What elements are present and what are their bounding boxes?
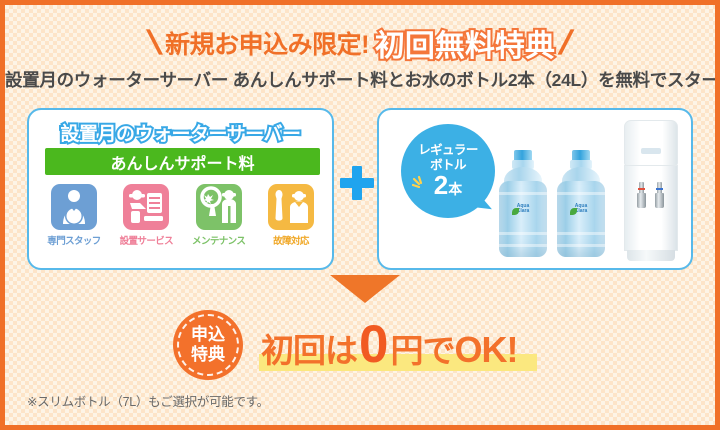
- installation-icon: [123, 184, 169, 230]
- feature-item-staff: 専門スタッフ: [41, 184, 107, 247]
- bubble-count: 2: [434, 170, 448, 200]
- bottle-brand-label: Aqua Clara: [568, 204, 594, 218]
- feature-label-maintenance: メンテナンス: [186, 233, 252, 247]
- tap-body: [637, 193, 646, 208]
- sparkle-icon: [412, 176, 428, 192]
- bottle-rib: [557, 244, 605, 247]
- offer-badge: 申込 特典: [173, 310, 243, 380]
- feature-label-installation: 設置サービス: [113, 233, 179, 247]
- water-server: [622, 120, 680, 262]
- support-panel-band: あんしんサポート料: [45, 148, 320, 175]
- feature-item-maintenance: メンテナンス: [186, 184, 252, 247]
- cold-water-tap: [655, 182, 664, 208]
- support-feature-list: 専門スタッフ: [41, 184, 324, 247]
- support-fee-panel: 設置月のウォーターサーバー あんしんサポート料 専門スタッフ: [27, 108, 334, 270]
- hot-water-tap: [637, 182, 646, 208]
- footnote: ※スリムボトル（7L）もご選択が可能です。: [27, 391, 269, 410]
- offer-amount: 0: [359, 318, 388, 371]
- server-top-section: [624, 120, 678, 166]
- bottle-count-bubble: レギュラー ボトル 2本: [401, 124, 495, 218]
- headline-subtitle: 設置月のウォーターサーバー あんしんサポート料とお水のボトル2本（24L）を無料…: [5, 67, 715, 92]
- bottle-brand-label: Aqua Clara: [510, 204, 536, 218]
- water-bottle: Aqua Clara: [497, 148, 549, 260]
- down-arrow-icon: [330, 275, 400, 303]
- offer-summary: 申込 特典 初回は 0 円 で OK!: [173, 310, 593, 382]
- offer-currency: 円: [390, 324, 422, 372]
- support-panel-title: 設置月のウォーターサーバー: [29, 119, 332, 146]
- bottle-rib: [557, 232, 605, 235]
- feature-item-repair: 故障対応: [258, 184, 324, 247]
- server-logo: [641, 148, 661, 154]
- headline-emphasis-text: 初回無料特典: [375, 21, 555, 65]
- staff-icon: [51, 184, 97, 230]
- server-body-section: [624, 165, 678, 251]
- hot-indicator: [638, 188, 645, 190]
- maintenance-icon: [196, 184, 242, 230]
- headline-lead-text: 新規お申込み限定!: [165, 25, 369, 61]
- offer-badge-line-1: 申込: [191, 325, 225, 345]
- bottle-rib: [499, 192, 547, 195]
- tap-body: [655, 193, 664, 208]
- offer-prefix: 初回は: [261, 324, 357, 372]
- headline: \ 新規お申込み限定! 初回無料特典 /: [5, 23, 715, 63]
- repair-icon: [268, 184, 314, 230]
- bottle-rib: [557, 192, 605, 195]
- offer-text: 初回は 0 円 で OK!: [261, 318, 517, 374]
- water-bottle-group: Aqua Clara Aqua Clara: [497, 148, 609, 260]
- offer-connector: で: [422, 324, 454, 372]
- feature-label-repair: 故障対応: [258, 233, 324, 247]
- offer-suffix: OK!: [454, 329, 517, 371]
- water-bottle: Aqua Clara: [555, 148, 607, 260]
- slash-left-decoration: \: [144, 26, 165, 60]
- bottles-panel: レギュラー ボトル 2本 Aqua Clara: [377, 108, 693, 270]
- plus-icon: [340, 166, 374, 200]
- bottle-rib: [499, 232, 547, 235]
- server-base: [627, 250, 675, 261]
- offer-panels: 設置月のウォーターサーバー あんしんサポート料 専門スタッフ: [27, 108, 693, 270]
- slash-right-decoration: /: [555, 26, 576, 60]
- bubble-line-1: レギュラー: [418, 144, 478, 158]
- bubble-unit: 本: [448, 181, 462, 197]
- feature-item-installation: 設置サービス: [113, 184, 179, 247]
- feature-label-staff: 専門スタッフ: [41, 233, 107, 247]
- bottle-rib: [499, 244, 547, 247]
- promo-banner: \ 新規お申込み限定! 初回無料特典 / 設置月のウォーターサーバー あんしんサ…: [0, 0, 720, 430]
- cold-indicator: [656, 188, 663, 190]
- offer-badge-line-2: 特典: [191, 345, 225, 365]
